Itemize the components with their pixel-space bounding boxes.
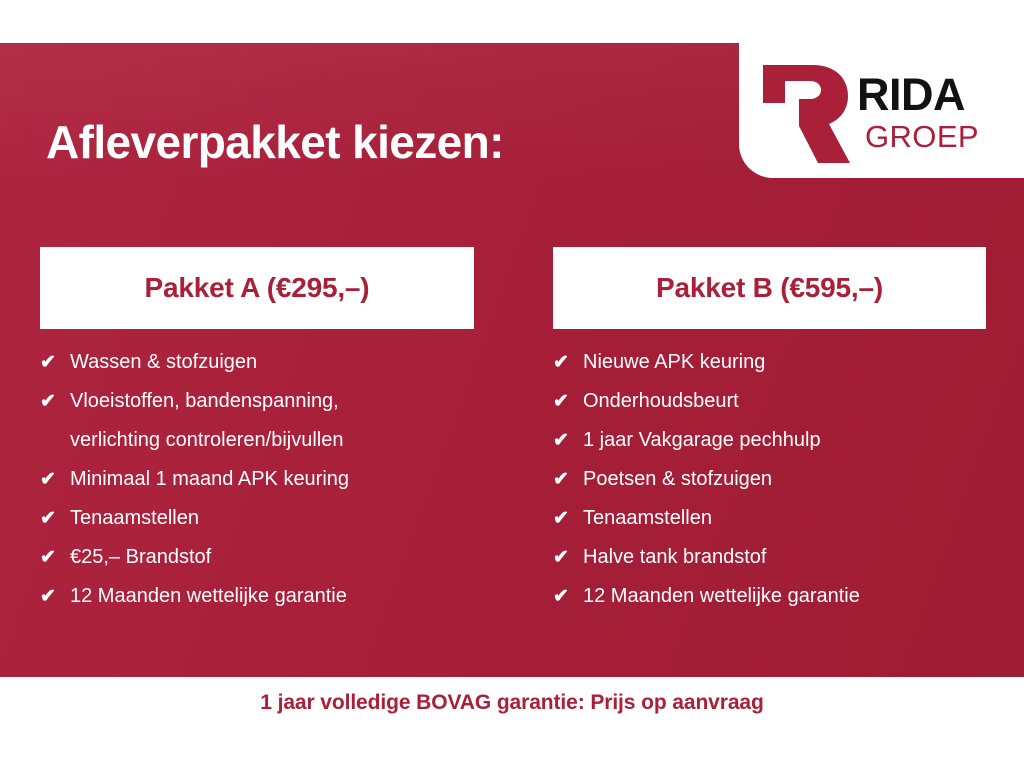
- list-item: ✔ 1 jaar Vakgarage pechhulp: [553, 421, 986, 460]
- feature-label: €25,– Brandstof: [70, 538, 474, 577]
- package-title-pakket-a: Pakket A (€295,–): [145, 272, 370, 304]
- list-item: ✔ Tenaamstellen: [40, 499, 474, 538]
- brand-logo-wordmark: RIDA GROEP: [857, 70, 979, 152]
- check-icon: ✔: [553, 460, 583, 499]
- logo-secondary-text: GROEP: [865, 121, 979, 152]
- package-column-pakket-a: Pakket A (€295,–) ✔ Wassen & stofzuigen …: [0, 247, 512, 616]
- slide-background: Afleverpakket kiezen: RIDA GROEP Pakket …: [0, 43, 1024, 677]
- feature-label: Halve tank brandstof: [583, 538, 986, 577]
- rida-r-monogram-icon: [755, 59, 851, 163]
- footer-note: 1 jaar volledige BOVAG garantie: Prijs o…: [260, 691, 763, 715]
- feature-label: Tenaamstellen: [583, 499, 986, 538]
- feature-label: Tenaamstellen: [70, 499, 474, 538]
- package-title-pakket-b: Pakket B (€595,–): [656, 272, 883, 304]
- feature-label: 1 jaar Vakgarage pechhulp: [583, 421, 986, 460]
- footer-banner: 1 jaar volledige BOVAG garantie: Prijs o…: [0, 677, 1024, 768]
- list-item: ✔ 12 Maanden wettelijke garantie: [40, 577, 474, 616]
- check-icon: ✔: [40, 538, 70, 577]
- list-item: ✔ Nieuwe APK keuring: [553, 343, 986, 382]
- check-icon: ✔: [40, 460, 70, 499]
- check-icon: ✔: [553, 343, 583, 382]
- check-icon: ✔: [553, 421, 583, 460]
- package-column-pakket-b: Pakket B (€595,–) ✔ Nieuwe APK keuring ✔…: [512, 247, 1024, 616]
- check-icon: ✔: [40, 577, 70, 616]
- list-item: ✔ €25,– Brandstof: [40, 538, 474, 577]
- check-icon: ✔: [553, 577, 583, 616]
- list-item: ✔ Wassen & stofzuigen: [40, 343, 474, 382]
- list-item: ✔ Poetsen & stofzuigen: [553, 460, 986, 499]
- list-item: ✔ Halve tank brandstof: [553, 538, 986, 577]
- list-item: ✔ Tenaamstellen: [553, 499, 986, 538]
- check-icon: ✔: [40, 499, 70, 538]
- feature-label: Nieuwe APK keuring: [583, 343, 986, 382]
- feature-label: Poetsen & stofzuigen: [583, 460, 986, 499]
- list-item: ✔ Minimaal 1 maand APK keuring: [40, 460, 474, 499]
- brand-logo-panel: RIDA GROEP: [739, 43, 1024, 178]
- logo-primary-text: RIDA: [857, 72, 965, 117]
- list-item: ✔ 12 Maanden wettelijke garantie: [553, 577, 986, 616]
- package-header-pakket-b[interactable]: Pakket B (€595,–): [553, 247, 986, 329]
- check-icon: ✔: [40, 382, 70, 421]
- feature-list-pakket-a: ✔ Wassen & stofzuigen ✔ Vloeistoffen, ba…: [40, 343, 474, 616]
- feature-label: 12 Maanden wettelijke garantie: [583, 577, 986, 616]
- list-item: ✔ Onderhoudsbeurt: [553, 382, 986, 421]
- packages-container: Pakket A (€295,–) ✔ Wassen & stofzuigen …: [0, 247, 1024, 616]
- check-icon: ✔: [553, 538, 583, 577]
- check-icon: ✔: [40, 343, 70, 382]
- feature-label: Vloeistoffen, bandenspanning, verlichtin…: [70, 382, 474, 460]
- page-title: Afleverpakket kiezen:: [46, 115, 504, 169]
- check-icon: ✔: [553, 499, 583, 538]
- check-icon: ✔: [553, 382, 583, 421]
- feature-label: Onderhoudsbeurt: [583, 382, 986, 421]
- feature-list-pakket-b: ✔ Nieuwe APK keuring ✔ Onderhoudsbeurt ✔…: [553, 343, 986, 616]
- list-item: ✔ Vloeistoffen, bandenspanning, verlicht…: [40, 382, 474, 460]
- feature-label: Minimaal 1 maand APK keuring: [70, 460, 474, 499]
- feature-label: 12 Maanden wettelijke garantie: [70, 577, 474, 616]
- feature-label: Wassen & stofzuigen: [70, 343, 474, 382]
- package-header-pakket-a[interactable]: Pakket A (€295,–): [40, 247, 474, 329]
